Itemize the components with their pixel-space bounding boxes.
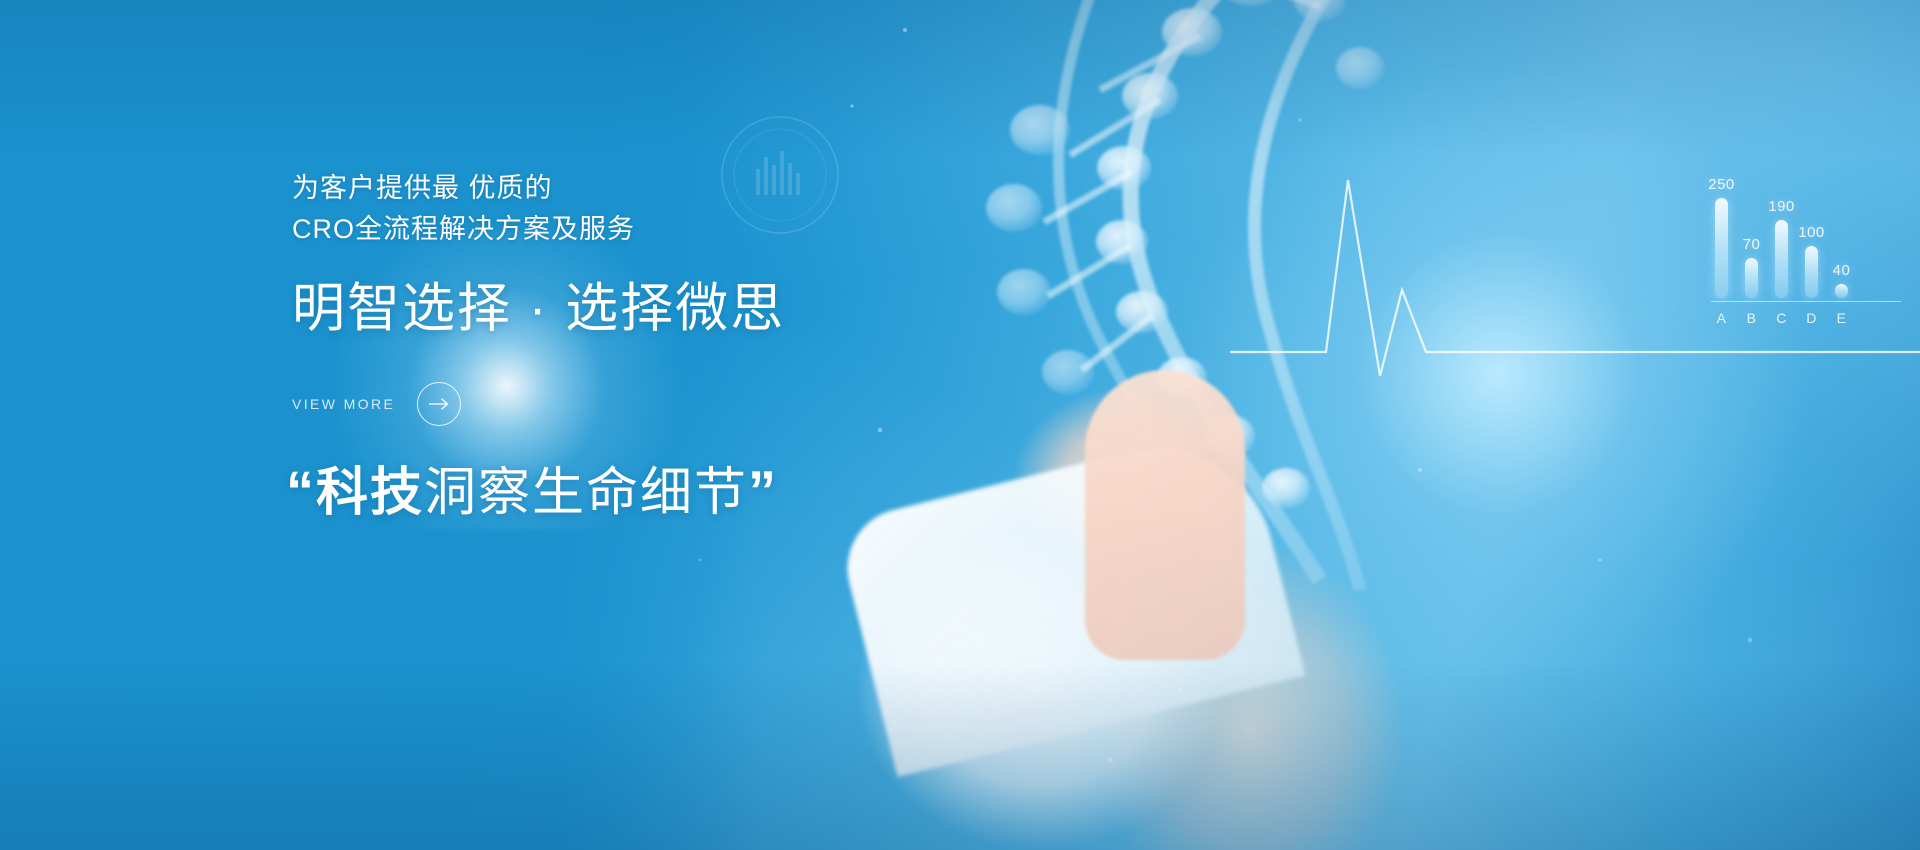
quote-light-text: 洞察生命细节 [424, 464, 748, 522]
banner-quote: “科技洞察生命细节” [286, 455, 926, 529]
quote-strong-text: 科技 [316, 464, 424, 522]
subtitle-line-2: CRO全流程解决方案及服务 [292, 209, 912, 250]
hero-banner: 250 70 190 100 40 A B C [0, 0, 1920, 850]
quote-close-mark: ” [748, 459, 778, 522]
view-more-label: VIEW MORE [292, 396, 395, 412]
vignette-overlay [0, 0, 1920, 850]
subtitle-line-1: 为客户提供最 优质的 [292, 168, 912, 209]
quote-open-mark: “ [286, 459, 316, 522]
banner-subtitle: 为客户提供最 优质的 CRO全流程解决方案及服务 [292, 168, 912, 250]
banner-headline: 明智选择 · 选择微思 [292, 276, 912, 342]
view-more-button[interactable]: VIEW MORE [292, 382, 461, 426]
banner-content: 为客户提供最 优质的 CRO全流程解决方案及服务 明智选择 · 选择微思 VIE… [292, 0, 912, 850]
arrow-right-icon [417, 382, 461, 426]
